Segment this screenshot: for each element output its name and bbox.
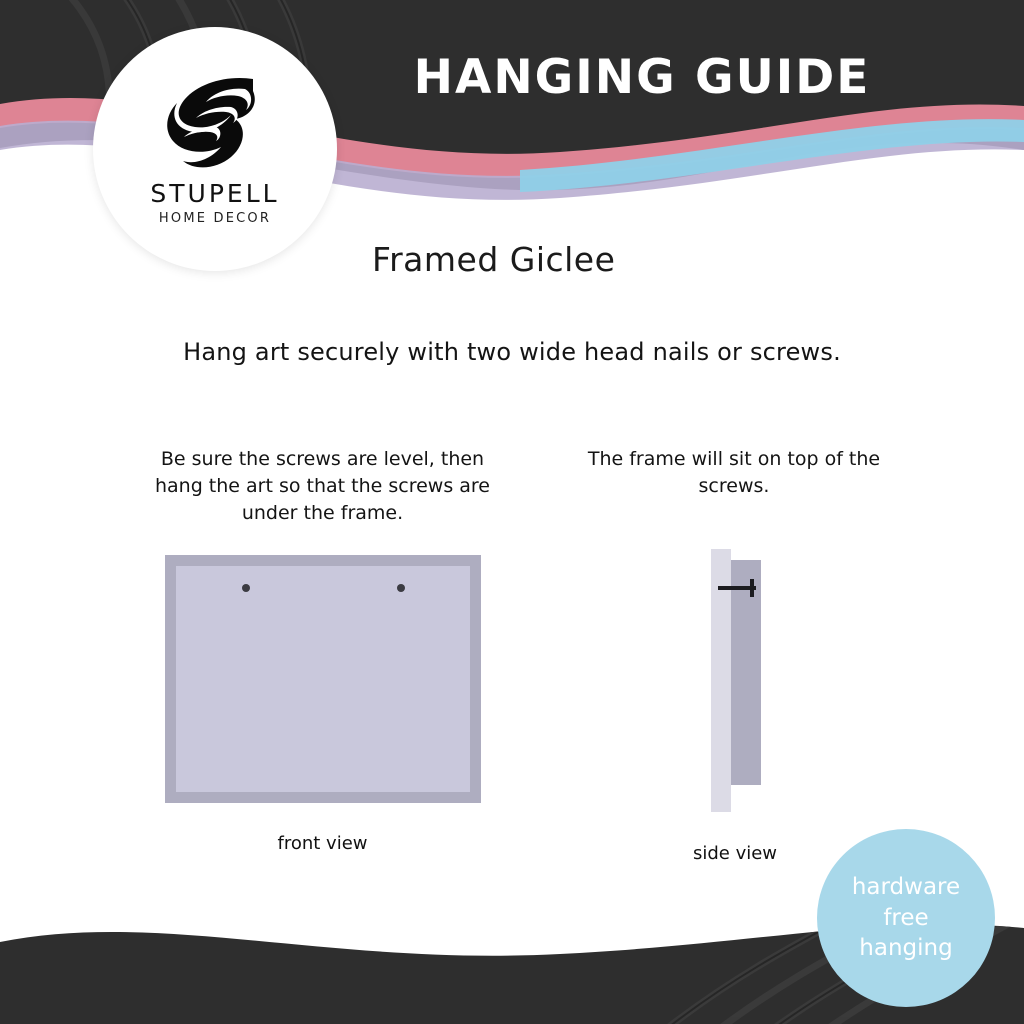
logo-brand-name: STUPELL xyxy=(93,179,337,208)
side-view-screw-head-icon xyxy=(750,579,754,597)
hanging-guide-page: HANGING GUIDE STUPELL HOME DECOR Framed … xyxy=(0,0,1024,1024)
stupell-swoosh-icon xyxy=(161,73,269,177)
main-instruction: Hang art securely with two wide head nai… xyxy=(0,338,1024,366)
product-type-heading: Framed Giclee xyxy=(372,240,832,279)
badge-line-3: hanging xyxy=(852,933,960,963)
hardware-free-badge-text: hardware free hanging xyxy=(852,872,960,963)
screw-dot-left-icon xyxy=(242,584,250,592)
side-view-label: side view xyxy=(600,843,870,864)
side-view-caption: The frame will sit on top of the screws. xyxy=(584,446,884,500)
front-view-frame-inner xyxy=(176,566,470,792)
badge-line-1: hardware xyxy=(852,872,960,902)
brand-logo: STUPELL HOME DECOR xyxy=(93,27,337,271)
screw-dot-right-icon xyxy=(397,584,405,592)
front-view-label: front view xyxy=(180,833,465,854)
logo-brand-subtitle: HOME DECOR xyxy=(93,211,337,226)
page-title: HANGING GUIDE xyxy=(372,52,912,104)
front-view-caption: Be sure the screws are level, then hang … xyxy=(150,446,495,527)
side-view-frame xyxy=(731,560,761,785)
front-view-frame-diagram xyxy=(165,555,481,803)
hardware-free-badge: hardware free hanging xyxy=(817,829,995,1007)
badge-line-2: free xyxy=(852,903,960,933)
